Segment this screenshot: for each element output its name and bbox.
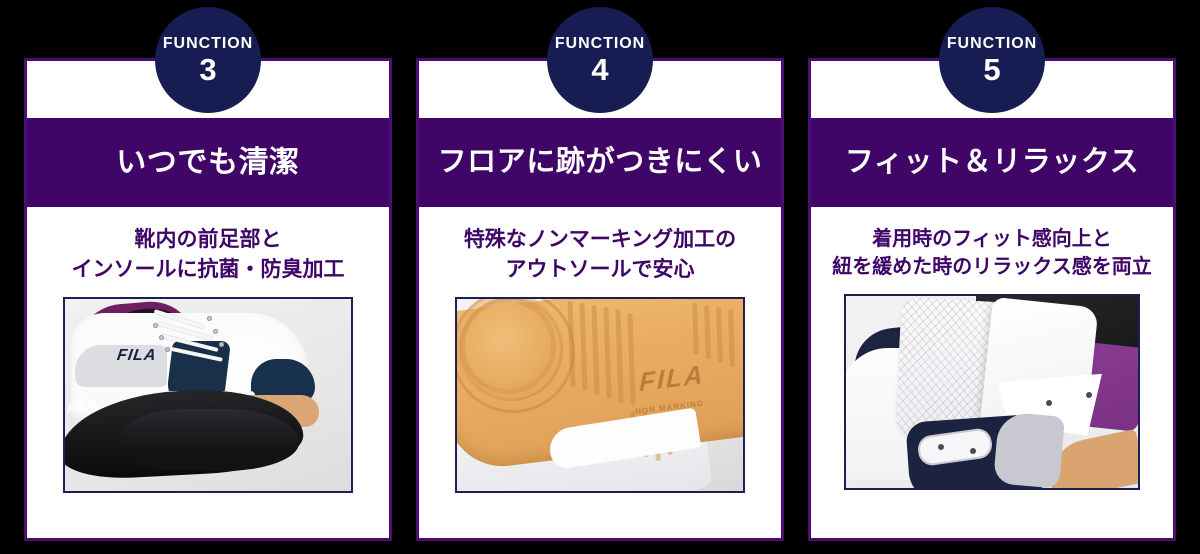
shoe-grey-panel [993,411,1065,488]
photo-inner [846,296,1138,488]
badge-word: FUNCTION [947,36,1037,52]
function-card-5: フィット＆リラックス 着用時のフィット感向上と 紐を緩めた時のリラックス感を両立 [808,58,1176,541]
function-badge-5: FUNCTION 5 [939,7,1045,113]
card-title-band: フィット＆リラックス [811,118,1173,207]
product-photo-tongue [844,294,1140,490]
badge-number: 5 [983,54,1000,85]
product-photo-outsole: FILA NON MARKING [455,297,745,493]
shoe-laces [151,315,243,361]
card-title: フロアに跡がつきにくい [438,147,763,179]
card-body: 着用時のフィット感向上と 紐を緩めた時のリラックス感を両立 [811,207,1173,538]
badge-number: 3 [199,54,216,85]
card-title-band: いつでも清潔 [27,118,389,207]
card-title: いつでも清潔 [116,146,300,179]
badge-word: FUNCTION [163,36,253,52]
badge-number: 4 [591,54,608,85]
fila-logo-upper: FILA [116,347,158,365]
function-badge-3: FUNCTION 3 [155,7,261,113]
function-card-3: いつでも清潔 靴内の前足部と インソールに抗菌・防臭加工 [24,58,392,541]
card-title: フィット＆リラックス [845,147,1139,179]
black-insole-forefoot [119,409,299,471]
card-description: 靴内の前足部と インソールに抗菌・防臭加工 [66,225,351,285]
card-title-band: フロアに跡がつきにくい [419,118,781,207]
card-description: 特殊なノンマーキング加工の アウトソールで安心 [458,225,742,285]
photo-inner: FILA FILA [65,299,351,491]
badge-word: FUNCTION [555,36,645,52]
function-cards-board: いつでも清潔 靴内の前足部と インソールに抗菌・防臭加工 [0,0,1200,554]
product-photo-insole: FILA FILA [63,297,353,493]
function-badge-4: FUNCTION 4 [547,7,653,113]
card-description: 着用時のフィット感向上と 紐を緩めた時のリラックス感を両立 [826,225,1157,282]
photo-inner: FILA NON MARKING [457,299,743,491]
card-body: 靴内の前足部と インソールに抗菌・防臭加工 [27,207,389,538]
card-body: 特殊なノンマーキング加工の アウトソールで安心 [419,207,781,538]
function-card-4: フロアに跡がつきにくい 特殊なノンマーキング加工の アウトソールで安心 [416,58,784,541]
